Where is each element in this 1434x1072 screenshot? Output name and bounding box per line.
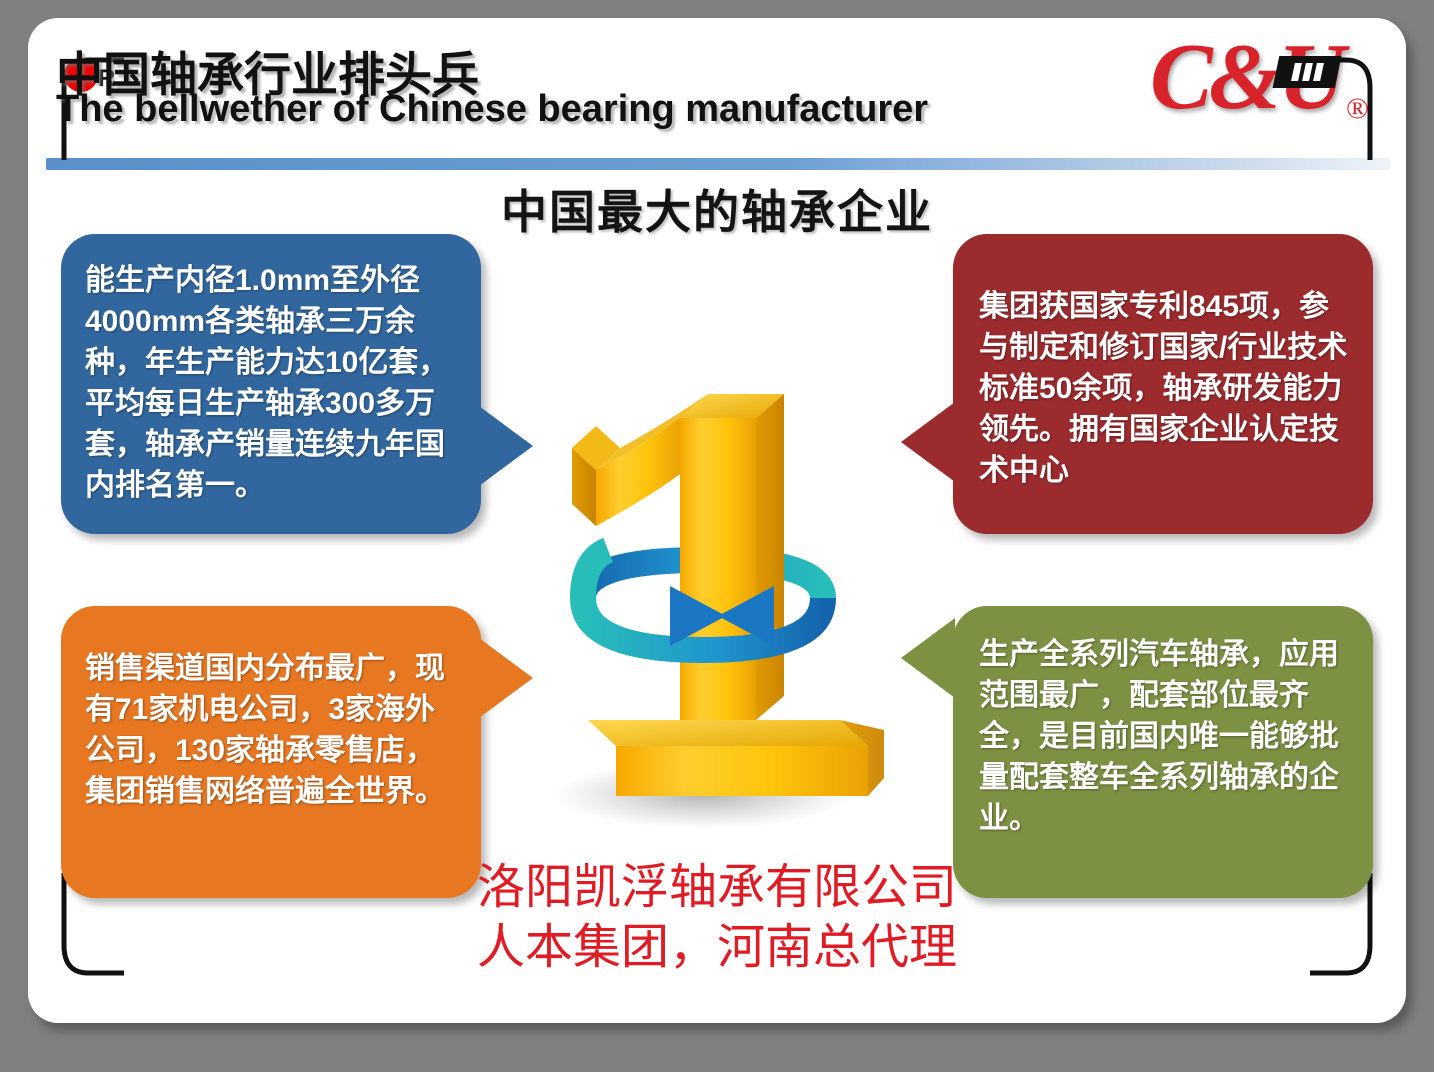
callout-tail-green — [901, 618, 955, 698]
slide-header: R 中国轴承行业排头兵 The bellwether of Chinese be… — [28, 18, 1406, 148]
page-title: 中国最大的轴承企业 — [28, 176, 1406, 242]
callout-text-green: 生产全系列汽车轴承，应用范围最广，配套部位最齐全，是目前国内唯一能够批量配套整车… — [979, 634, 1349, 839]
logo-registered-icon: ® — [1346, 92, 1369, 126]
callout-production-capacity[interactable]: 能生产内径1.0mm至外径4000mm各类轴承三万余种，年生产能力达10亿套，平… — [61, 234, 481, 534]
callout-automotive-bearings[interactable]: 生产全系列汽车轴承，应用范围最广，配套部位最齐全，是目前国内唯一能够批量配套整车… — [953, 606, 1373, 898]
header-divider-rule — [46, 158, 1390, 170]
callout-text-orange: 销售渠道国内分布最广，现有71家机电公司，3家海外公司，130家轴承零售店，集团… — [85, 648, 457, 812]
callout-sales-network[interactable]: 销售渠道国内分布最广，现有71家机电公司，3家海外公司，130家轴承零售店，集团… — [61, 606, 481, 898]
cu-logo: C&U ® — [1150, 30, 1370, 138]
callout-patents-standards[interactable]: 集团获国家专利845项，参与制定和修订国家/行业技术标准50余项，轴承研发能力领… — [953, 234, 1373, 534]
logo-bars-icon — [1273, 56, 1342, 88]
number-one-graphic — [488, 298, 948, 858]
footer-line-2: 人本集团，河南总代理 — [28, 918, 1406, 978]
header-title-english: The bellwether of Chinese bearing manufa… — [56, 88, 928, 131]
callout-tail-blue — [479, 406, 533, 486]
callout-tail-orange — [479, 638, 533, 718]
callout-text-blue: 能生产内径1.0mm至外径4000mm各类轴承三万余种，年生产能力达10亿套，平… — [85, 260, 457, 507]
callout-tail-red — [901, 402, 955, 482]
callout-text-red: 集团获国家专利845项，参与制定和修订国家/行业技术标准50余项，轴承研发能力领… — [979, 286, 1349, 491]
slide-canvas: R 中国轴承行业排头兵 The bellwether of Chinese be… — [28, 18, 1406, 1023]
